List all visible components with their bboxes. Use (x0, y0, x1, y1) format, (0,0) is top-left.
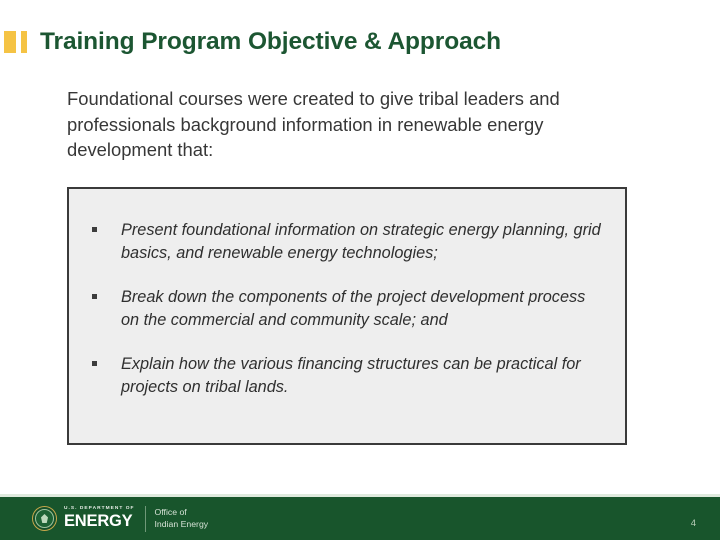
double-bar-accent-icon (4, 31, 27, 53)
slide-title-row: Training Program Objective & Approach (0, 24, 690, 60)
doe-seal-icon (32, 506, 57, 531)
square-bullet-icon (92, 227, 97, 232)
logo-vertical-divider (145, 506, 146, 532)
objectives-list: Present foundational information on stra… (92, 219, 604, 399)
page-number: 4 (691, 519, 696, 529)
footer-band: U.S. DEPARTMENT OF ENERGY Office of Indi… (0, 497, 720, 540)
page-title: Training Program Objective & Approach (40, 30, 501, 55)
accent-bar-wide (4, 31, 16, 53)
doe-agency-label: ENERGY (64, 513, 135, 530)
list-item: Explain how the various financing struct… (92, 353, 604, 399)
slide: Training Program Objective & Approach Fo… (0, 0, 720, 540)
doe-wordmark: U.S. DEPARTMENT OF ENERGY (64, 507, 135, 529)
doe-logo: U.S. DEPARTMENT OF ENERGY Office of Indi… (32, 503, 208, 534)
list-item: Present foundational information on stra… (92, 219, 604, 265)
office-name-line-2: Indian Energy (155, 519, 209, 531)
office-name: Office of Indian Energy (155, 507, 209, 530)
accent-bar-narrow (21, 31, 27, 53)
office-name-line-1: Office of (155, 507, 209, 519)
list-item-label: Present foundational information on stra… (121, 219, 604, 265)
list-item-label: Explain how the various financing struct… (121, 353, 604, 399)
intro-paragraph: Foundational courses were created to giv… (67, 86, 647, 163)
objectives-box: Present foundational information on stra… (67, 187, 627, 445)
square-bullet-icon (92, 361, 97, 366)
list-item: Break down the components of the project… (92, 286, 604, 332)
list-item-label: Break down the components of the project… (121, 286, 604, 332)
square-bullet-icon (92, 294, 97, 299)
